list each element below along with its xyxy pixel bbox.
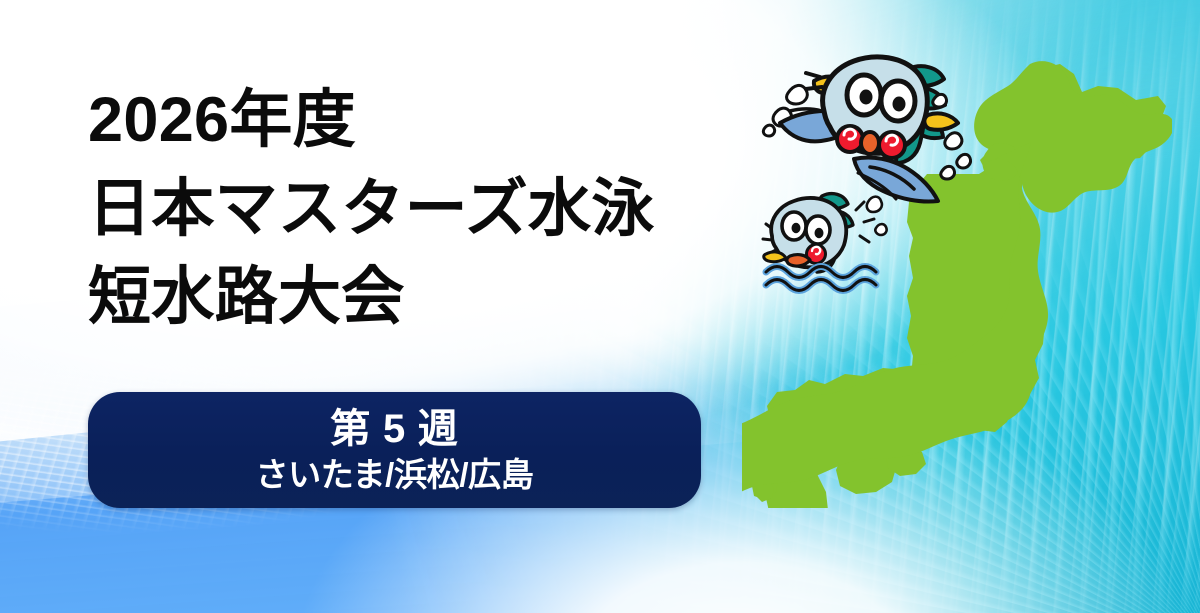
swimming-mascot-icon bbox=[762, 55, 974, 210]
week-badge: 第 5 週 さいたま/浜松/広島 bbox=[88, 392, 701, 508]
headline-line-type: 短水路大会 bbox=[88, 265, 655, 331]
event-banner: 2026年度 日本マスターズ水泳 短水路大会 第 5 週 さいたま/浜松/広島 bbox=[0, 0, 1200, 613]
week-badge-subtitle: さいたま/浜松/広島 bbox=[255, 458, 533, 491]
swimming-mascot-small-icon bbox=[760, 188, 890, 300]
week-badge-title: 第 5 週 bbox=[330, 409, 458, 449]
page-title: 2026年度 日本マスターズ水泳 短水路大会 bbox=[88, 88, 655, 331]
headline-line-event: 日本マスターズ水泳 bbox=[88, 177, 655, 243]
headline-line-year: 2026年度 bbox=[88, 88, 655, 154]
